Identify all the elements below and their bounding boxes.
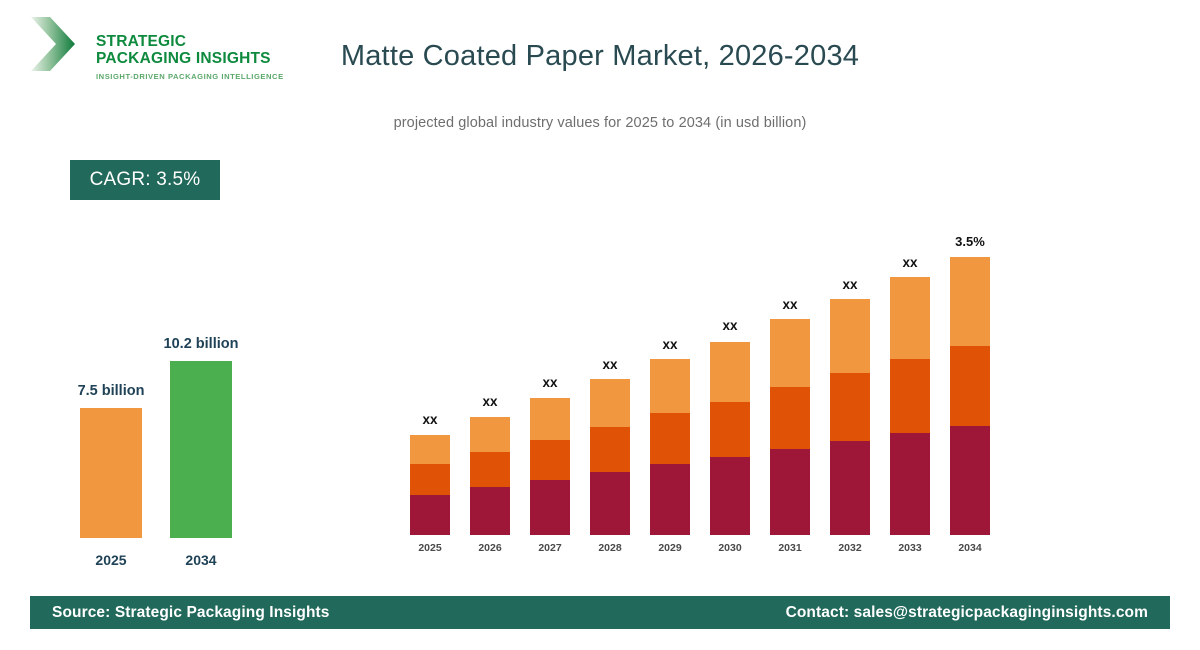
stacked-bar-2029 xyxy=(650,359,690,535)
infographic-canvas: STRATEGIC PACKAGING INSIGHTS INSIGHT-DRI… xyxy=(0,0,1200,650)
stacked-column-2028: xx2028 xyxy=(590,205,630,555)
comparison-column-2034: 10.2 billion 2034 xyxy=(170,305,232,570)
stacked-segment-segment-bottom-2028 xyxy=(590,472,630,535)
stacked-segment-segment-middle-2026 xyxy=(470,452,510,487)
stacked-segment-segment-middle-2027 xyxy=(530,440,570,480)
comparison-label-2034: 2034 xyxy=(185,552,216,568)
stacked-value-label-2032: xx xyxy=(842,277,857,292)
endpoint-comparison-chart: 7.5 billion 2025 10.2 billion 2034 xyxy=(55,300,275,570)
stacked-segment-segment-top-2029 xyxy=(650,359,690,413)
stacked-value-label-2027: xx xyxy=(542,375,557,390)
stacked-value-label-2028: xx xyxy=(602,357,617,372)
stacked-segment-segment-bottom-2026 xyxy=(470,487,510,535)
stacked-axis-label-2034: 2034 xyxy=(958,542,981,554)
stacked-value-label-2030: xx xyxy=(722,318,737,333)
stacked-segment-segment-top-2028 xyxy=(590,379,630,427)
stacked-value-label-2031: xx xyxy=(782,297,797,312)
stacked-bar-2032 xyxy=(830,299,870,535)
footer-contact: Contact: sales@strategicpackaginginsight… xyxy=(786,604,1148,622)
stacked-segment-segment-middle-2034 xyxy=(950,346,990,426)
stacked-segment-segment-middle-2033 xyxy=(890,359,930,433)
stacked-column-2033: xx2033 xyxy=(890,205,930,555)
stacked-axis-label-2029: 2029 xyxy=(658,542,681,554)
stacked-segment-segment-bottom-2030 xyxy=(710,457,750,535)
stacked-column-2034: 3.5%2034 xyxy=(950,205,990,555)
stacked-axis-label-2030: 2030 xyxy=(718,542,741,554)
comparison-column-2025: 7.5 billion 2025 xyxy=(80,305,142,570)
stacked-axis-label-2031: 2031 xyxy=(778,542,801,554)
stacked-segment-segment-top-2033 xyxy=(890,277,930,359)
stacked-axis-label-2025: 2025 xyxy=(418,542,441,554)
stacked-value-label-2034: 3.5% xyxy=(955,234,985,249)
stacked-segment-segment-top-2025 xyxy=(410,435,450,464)
stacked-bar-2027 xyxy=(530,398,570,535)
stacked-value-label-2033: xx xyxy=(902,255,917,270)
stacked-segment-segment-middle-2030 xyxy=(710,402,750,457)
stacked-segment-segment-middle-2028 xyxy=(590,427,630,472)
footer-source: Source: Strategic Packaging Insights xyxy=(52,604,330,622)
stacked-column-2032: xx2032 xyxy=(830,205,870,555)
stacked-axis-label-2027: 2027 xyxy=(538,542,561,554)
stacked-bar-2025 xyxy=(410,435,450,535)
stacked-axis-label-2033: 2033 xyxy=(898,542,921,554)
stacked-axis-label-2028: 2028 xyxy=(598,542,621,554)
comparison-bar-2034 xyxy=(170,361,232,538)
stacked-segment-segment-bottom-2027 xyxy=(530,480,570,535)
stacked-segment-segment-middle-2032 xyxy=(830,373,870,441)
cagr-badge: CAGR: 3.5% xyxy=(70,160,220,200)
comparison-bar-2025 xyxy=(80,408,142,538)
stacked-segment-segment-top-2026 xyxy=(470,417,510,452)
stacked-bar-2034 xyxy=(950,257,990,535)
stacked-column-2030: xx2030 xyxy=(710,205,750,555)
stacked-column-2027: xx2027 xyxy=(530,205,570,555)
stacked-segment-segment-top-2027 xyxy=(530,398,570,440)
page-subtitle: projected global industry values for 202… xyxy=(0,115,1200,131)
stacked-column-2026: xx2026 xyxy=(470,205,510,555)
stacked-column-2025: xx2025 xyxy=(410,205,450,555)
stacked-segment-segment-top-2032 xyxy=(830,299,870,373)
stacked-bar-2028 xyxy=(590,379,630,535)
stacked-column-2031: xx2031 xyxy=(770,205,810,555)
stacked-bar-2026 xyxy=(470,417,510,535)
stacked-segment-segment-bottom-2034 xyxy=(950,426,990,535)
stacked-bar-2031 xyxy=(770,319,810,535)
stacked-value-label-2026: xx xyxy=(482,394,497,409)
stacked-segment-segment-bottom-2032 xyxy=(830,441,870,535)
comparison-value-2025: 7.5 billion xyxy=(78,383,145,399)
stacked-segment-segment-middle-2031 xyxy=(770,387,810,449)
stacked-value-label-2025: xx xyxy=(422,412,437,427)
comparison-value-2034: 10.2 billion xyxy=(164,336,239,352)
stacked-segment-segment-bottom-2033 xyxy=(890,433,930,535)
stacked-column-2029: xx2029 xyxy=(650,205,690,555)
page-title: Matte Coated Paper Market, 2026-2034 xyxy=(0,40,1200,73)
stacked-segment-segment-top-2031 xyxy=(770,319,810,387)
brand-tagline: INSIGHT-DRIVEN PACKAGING INTELLIGENCE xyxy=(96,72,296,81)
footer-bar: Source: Strategic Packaging Insights Con… xyxy=(30,596,1170,629)
stacked-value-label-2029: xx xyxy=(662,337,677,352)
stacked-axis-label-2026: 2026 xyxy=(478,542,501,554)
stacked-segment-segment-top-2034 xyxy=(950,257,990,346)
stacked-axis-label-2032: 2032 xyxy=(838,542,861,554)
stacked-bar-2033 xyxy=(890,277,930,535)
stacked-segment-segment-top-2030 xyxy=(710,342,750,402)
stacked-segment-segment-bottom-2025 xyxy=(410,495,450,535)
comparison-label-2025: 2025 xyxy=(95,552,126,568)
stacked-segment-segment-middle-2025 xyxy=(410,464,450,495)
stacked-segment-segment-bottom-2029 xyxy=(650,464,690,535)
stacked-segment-segment-middle-2029 xyxy=(650,413,690,464)
stacked-bar-2030 xyxy=(710,342,750,535)
yearly-stacked-chart: xx2025xx2026xx2027xx2028xx2029xx2030xx20… xyxy=(410,205,1010,555)
stacked-segment-segment-bottom-2031 xyxy=(770,449,810,535)
